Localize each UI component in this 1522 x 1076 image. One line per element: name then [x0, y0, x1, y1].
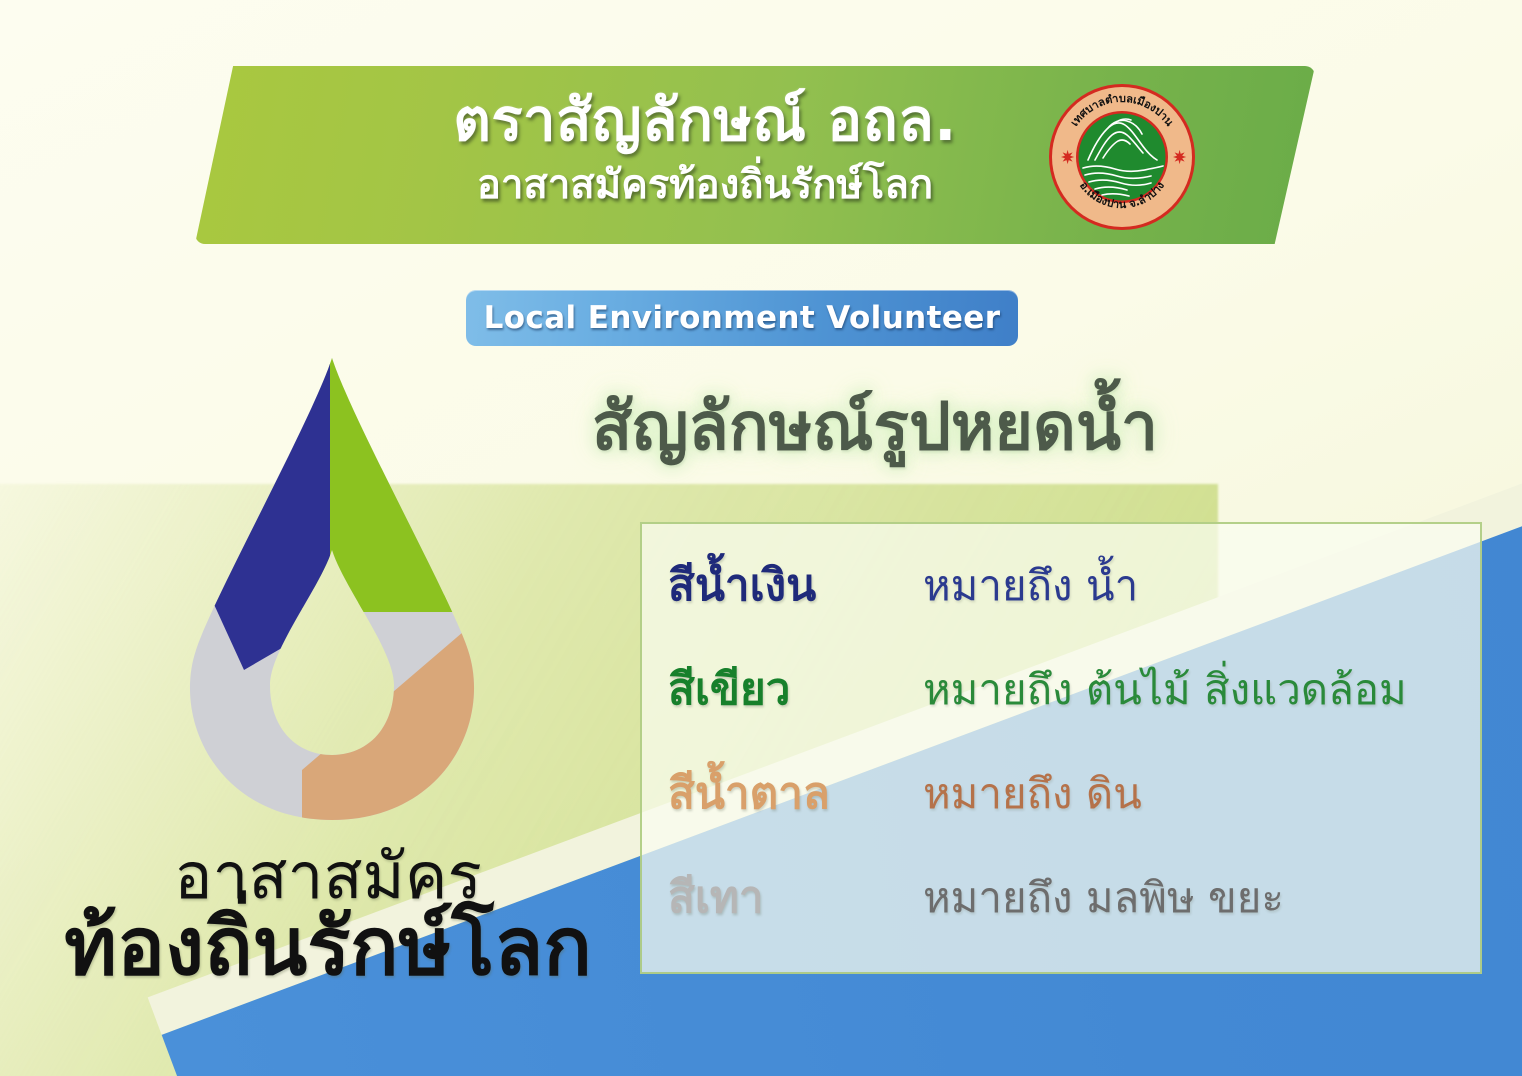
- municipality-seal-icon: เทศบาลตำบลเมืองปาน อ.เมืองปาน จ.ลำปาง: [1047, 82, 1197, 232]
- section-heading: สัญลักษณ์รูปหยดน้ำ: [545, 392, 1205, 461]
- brand-line-2: ท้องถิ่นรักษ์โลก: [18, 905, 638, 989]
- legend-key-grey: สีเทา: [668, 862, 923, 932]
- header-subtitle: อาสาสมัครท้องถิ่นรักษ์โลก: [315, 164, 1095, 206]
- english-subtitle-badge: Local Environment Volunteer: [466, 290, 1018, 346]
- legend-row-brown: สีน้ำตาล หมายถึง ดิน: [642, 758, 1480, 862]
- green-segment: [312, 350, 512, 612]
- english-subtitle-text: Local Environment Volunteer: [484, 300, 1001, 336]
- legend-value-brown: หมายถึง ดิน: [923, 761, 1142, 827]
- water-drop-logo: [152, 350, 512, 850]
- legend-row-blue: สีน้ำเงิน หมายถึง น้ำ: [642, 550, 1480, 654]
- legend-key-green: สีเขียว: [668, 654, 923, 724]
- legend-key-blue: สีน้ำเงิน: [668, 550, 923, 620]
- blue-segment: [212, 350, 330, 670]
- legend-key-brown: สีน้ำตาล: [668, 758, 923, 828]
- brand-text: อาสาสมัคร ท้องถิ่นรักษ์โลก: [18, 845, 638, 989]
- color-legend-panel: สีน้ำเงิน หมายถึง น้ำ สีเขียว หมายถึง ต้…: [640, 522, 1482, 974]
- header-title: ตราสัญลักษณ์ อถล.: [315, 90, 1095, 151]
- legend-row-green: สีเขียว หมายถึง ต้นไม้ สิ่งแวดล้อม: [642, 654, 1480, 758]
- legend-value-green: หมายถึง ต้นไม้ สิ่งแวดล้อม: [923, 657, 1407, 723]
- poster-root: ตราสัญลักษณ์ อถล. อาสาสมัครท้องถิ่นรักษ์…: [0, 0, 1522, 1076]
- legend-value-grey: หมายถึง มลพิษ ขยะ: [923, 865, 1284, 931]
- legend-value-blue: หมายถึง น้ำ: [923, 553, 1138, 619]
- legend-row-grey: สีเทา หมายถึง มลพิษ ขยะ: [642, 862, 1480, 966]
